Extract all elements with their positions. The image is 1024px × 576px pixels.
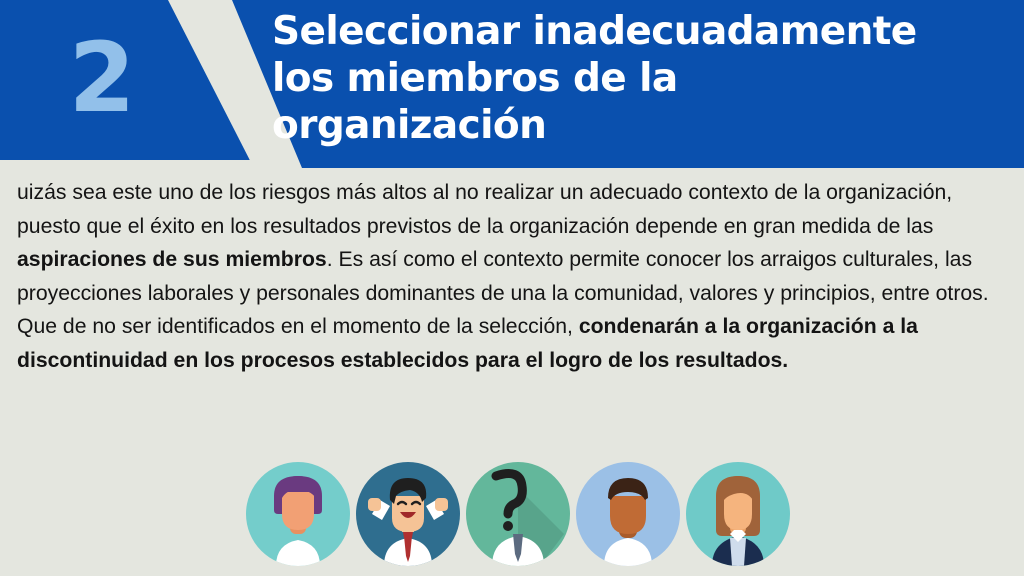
slide-canvas: 2 Seleccionar inadecuadamente los miembr… (0, 0, 1024, 576)
avatar-woman-navy-suit (686, 462, 790, 566)
face (724, 492, 752, 530)
page-title: Seleccionar inadecuadamente los miembros… (272, 8, 1020, 149)
blouse (730, 538, 746, 566)
face (610, 496, 646, 534)
hand-right (435, 498, 448, 511)
step-number: 2 (46, 18, 156, 138)
tie-knot (403, 532, 413, 538)
body-text-run: uizás sea este uno de los riesgos más al… (17, 181, 952, 238)
question-mark-dot (503, 521, 513, 531)
hand-left (368, 498, 381, 511)
body-paragraph: uizás sea este uno de los riesgos más al… (17, 176, 1007, 377)
avatar-man-cheering-tie (356, 462, 460, 566)
avatar-woman-purple-hair (246, 462, 350, 566)
header-banner: 2 Seleccionar inadecuadamente los miembr… (0, 0, 1024, 180)
face (282, 492, 314, 530)
avatar-question-mark-unknown (466, 462, 570, 566)
avatar-row (246, 462, 786, 574)
body-text-bold-run: aspiraciones de sus miembros (17, 248, 327, 271)
avatar-man-dark-skin (576, 462, 680, 566)
